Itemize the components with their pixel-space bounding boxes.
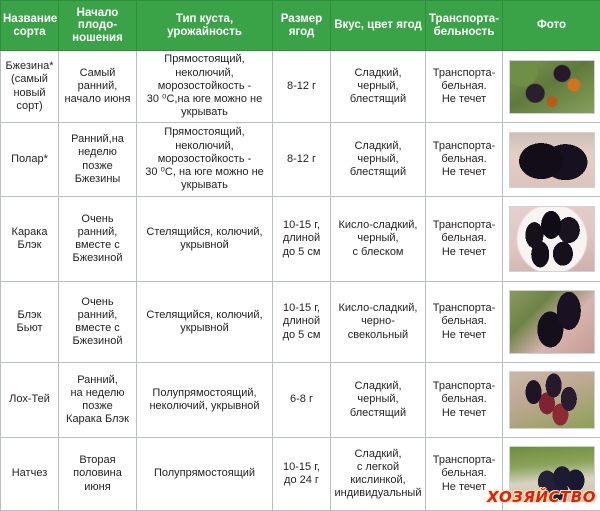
cell-bush-type: Полупрямостоящий,неколючий, укрывной xyxy=(137,363,273,438)
cell-variety-name: БлэкБьют xyxy=(1,282,59,363)
berry-photo-image xyxy=(510,291,594,353)
cell-photo xyxy=(503,438,600,511)
cell-taste-color: Сладкий,черный,блестящий xyxy=(331,363,426,438)
column-header-bush: Тип куста,урожайность xyxy=(137,1,273,51)
cell-fruiting-season: Оченьранний,вместе сБжезиной xyxy=(59,197,137,282)
cell-fruiting-season: Оченьранний,вместе сБжезиной xyxy=(59,282,137,363)
berry-photo-image xyxy=(510,447,594,501)
blackberry-varieties-table: Названиесорта Началоплодо-ношения Тип ку… xyxy=(0,0,600,510)
variety-comparison-table: Названиесорта Началоплодо-ношения Тип ку… xyxy=(0,0,600,511)
cell-variety-name: Бжезина*(самыйновыйсорт) xyxy=(1,51,59,123)
table-row: Натчез Втораяполовинаиюня Полупрямостоящ… xyxy=(1,438,600,511)
cell-fruiting-season: Ранний,на неделюпозжеКарака Блэк xyxy=(59,363,137,438)
cell-variety-name: Натчез xyxy=(1,438,59,511)
table-row: Полар* Ранний,нанеделюпозжеБжезины Прямо… xyxy=(1,123,600,197)
cell-photo xyxy=(503,123,600,197)
cell-variety-name: Лох-Тей xyxy=(1,363,59,438)
cell-berry-size: 10-15 г,длинойдо 5 см xyxy=(273,282,331,363)
cell-transportability: Транспорта-бельная.Не течет xyxy=(426,363,503,438)
photo-thumbnail xyxy=(509,446,595,502)
cell-berry-size: 6-8 г xyxy=(273,363,331,438)
table-row: Лох-Тей Ранний,на неделюпозжеКарака Блэк… xyxy=(1,363,600,438)
table-row: КаракаБлэк Оченьранний,вместе сБжезиной … xyxy=(1,197,600,282)
column-header-photo: Фото xyxy=(503,1,600,51)
photo-thumbnail xyxy=(509,371,595,429)
berry-photo-image xyxy=(510,61,594,113)
table-row: Бжезина*(самыйновыйсорт) Самыйранний,нач… xyxy=(1,51,600,123)
cell-photo xyxy=(503,51,600,123)
berry-photo-image xyxy=(510,372,594,428)
cell-fruiting-season: Втораяполовинаиюня xyxy=(59,438,137,511)
cell-berry-size: 10-15 г,до 24 г xyxy=(273,438,331,511)
cell-berry-size: 8-12 г xyxy=(273,123,331,197)
cell-taste-color: Кисло-сладкий,черно-свекольный xyxy=(331,282,426,363)
cell-berry-size: 10-15 г,длинойдо 5 см xyxy=(273,197,331,282)
photo-thumbnail xyxy=(509,206,595,272)
cell-fruiting-season: Самыйранний,начало июня xyxy=(59,51,137,123)
column-header-name: Названиесорта xyxy=(1,1,59,51)
cell-variety-name: Полар* xyxy=(1,123,59,197)
cell-taste-color: Кисло-сладкий,черный,с блеском xyxy=(331,197,426,282)
cell-transportability: Транспорта-бельная.Не течет xyxy=(426,197,503,282)
table-row: БлэкБьют Оченьранний,вместе сБжезиной Ст… xyxy=(1,282,600,363)
cell-transportability: Транспорта-бельная.Не течет xyxy=(426,51,503,123)
photo-thumbnail xyxy=(509,132,595,188)
cell-berry-size: 8-12 г xyxy=(273,51,331,123)
cell-bush-type: Стелящийся, колючий,укрывной xyxy=(137,197,273,282)
cell-photo xyxy=(503,197,600,282)
cell-bush-type: Стелящийся, колючий,укрывной xyxy=(137,282,273,363)
cell-photo xyxy=(503,282,600,363)
berry-photo-image xyxy=(510,207,594,271)
cell-bush-type: Прямостоящий,неколючий,морозостойкость -… xyxy=(137,51,273,123)
photo-thumbnail xyxy=(509,290,595,354)
cell-fruiting-season: Ранний,нанеделюпозжеБжезины xyxy=(59,123,137,197)
cell-transportability: Транспорта-бельная.Не течет xyxy=(426,438,503,511)
cell-bush-type: Полупрямостоящий xyxy=(137,438,273,511)
column-header-size: Размерягод xyxy=(273,1,331,51)
cell-taste-color: Сладкий,черный,блестящий xyxy=(331,123,426,197)
cell-taste-color: Сладкий,с легкойкислинкой,индивидуальный xyxy=(331,438,426,511)
table-header: Названиесорта Началоплодо-ношения Тип ку… xyxy=(1,1,600,51)
photo-thumbnail xyxy=(509,60,595,114)
column-header-taste: Вкус, цвет ягод xyxy=(331,1,426,51)
column-header-season: Началоплодо-ношения xyxy=(59,1,137,51)
header-row: Названиесорта Началоплодо-ношения Тип ку… xyxy=(1,1,600,51)
cell-bush-type: Прямостоящий,неколючий,морозостойкость -… xyxy=(137,123,273,197)
table-body: Бжезина*(самыйновыйсорт) Самыйранний,нач… xyxy=(1,51,600,511)
cell-variety-name: КаракаБлэк xyxy=(1,197,59,282)
berry-photo-image xyxy=(510,133,594,187)
cell-photo xyxy=(503,363,600,438)
cell-taste-color: Сладкий,черный,блестящий xyxy=(331,51,426,123)
cell-transportability: Транспорта-бельная.Не течет xyxy=(426,123,503,197)
cell-transportability: Транспорта-бельная.Не течет xyxy=(426,282,503,363)
column-header-transport: Транспорта-бельность xyxy=(426,1,503,51)
